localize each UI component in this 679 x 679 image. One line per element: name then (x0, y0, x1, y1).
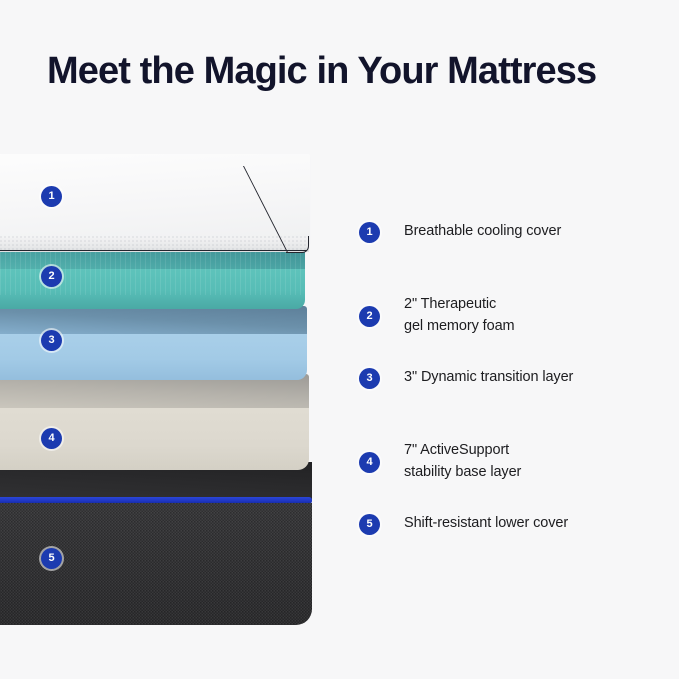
illustration-badge-4: 4 (41, 428, 62, 449)
cooling-cover-bottom-edge-line (0, 250, 307, 251)
illustration-badge-5: 5 (41, 548, 62, 569)
cooling-cover-perforation-texture (0, 236, 309, 250)
legend-badge-3: 3 (359, 368, 380, 389)
legend-label-3: 3" Dynamic transition layer (404, 366, 573, 388)
mattress-layer-shift-resistant-lower-cover (0, 462, 312, 630)
legend-label-1: Breathable cooling cover (404, 220, 561, 242)
legend-badge-2: 2 (359, 306, 380, 327)
legend-badge-5: 5 (359, 514, 380, 535)
cooling-cover-rounded-corner-edge (286, 236, 309, 253)
legend-label-5: Shift-resistant lower cover (404, 512, 568, 534)
mattress-layers-infographic: Meet the Magic in Your Mattress (0, 0, 679, 679)
mattress-layer-activesupport-stability-base (0, 374, 309, 474)
illustration-badge-3: 3 (41, 330, 62, 351)
legend-badge-4: 4 (359, 452, 380, 473)
mattress-layer-stack-illustration: 1 2 3 4 5 (0, 140, 340, 640)
page-title: Meet the Magic in Your Mattress (47, 48, 647, 94)
legend-label-4: 7" ActiveSupport stability base layer (404, 439, 521, 483)
legend-badge-1: 1 (359, 222, 380, 243)
illustration-badge-2: 2 (41, 266, 62, 287)
legend-label-2: 2" Therapeutic gel memory foam (404, 293, 515, 337)
illustration-badge-1: 1 (41, 186, 62, 207)
